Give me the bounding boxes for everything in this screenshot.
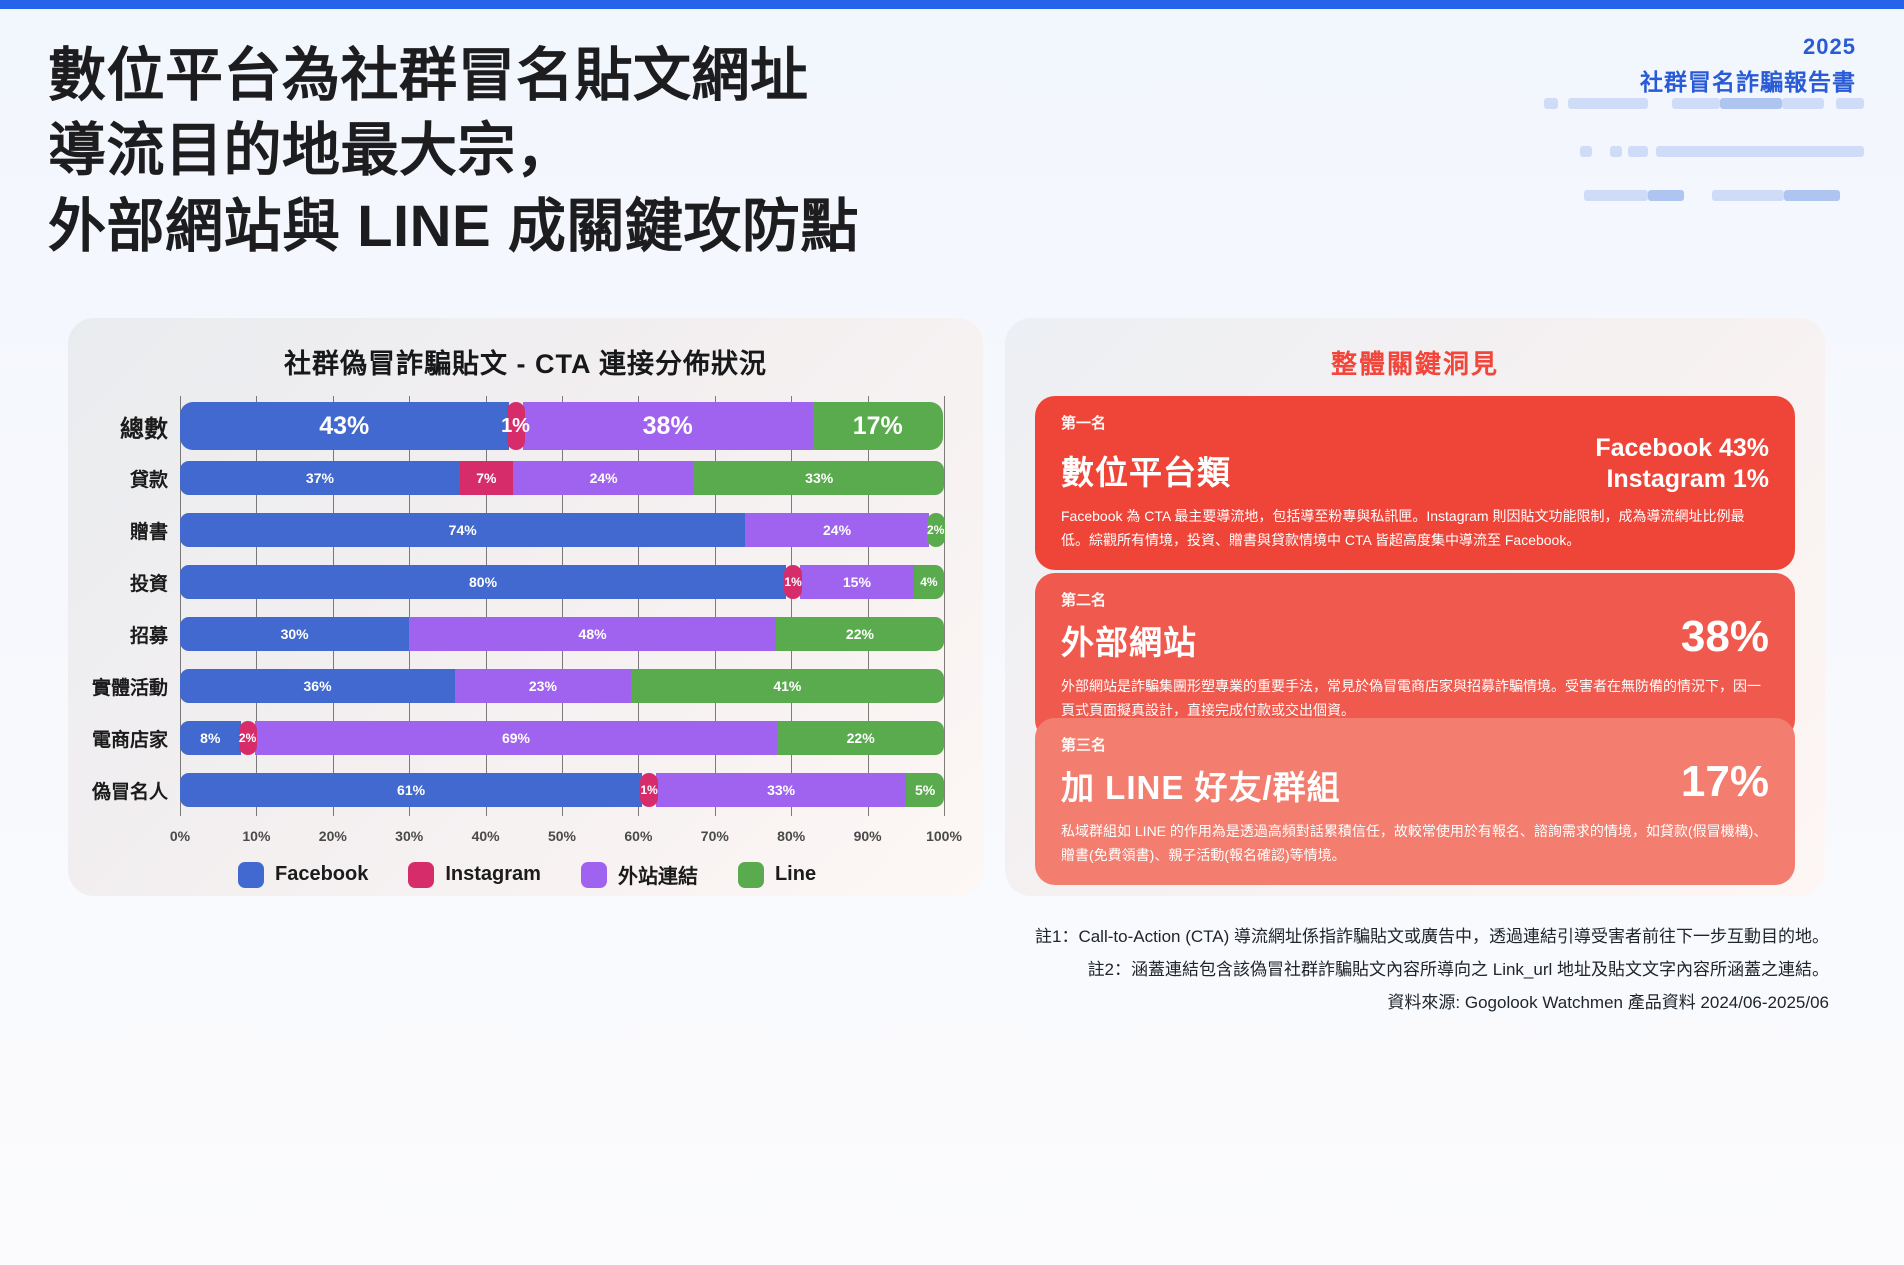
bar-segment-Facebook: 61% [180,773,642,807]
x-tick-label: 80% [777,828,805,844]
bar-segment-Instagram: 1% [507,402,525,450]
chart-legend: FacebookInstagram外站連結Line [238,860,816,889]
page-title: 數位平台為社群冒名貼文網址 導流目的地最大宗， 外部網站與 LINE 成關鍵攻防… [48,38,1228,264]
y-axis-label: 貸款 [130,465,168,492]
bar-value-label: 17% [853,412,903,441]
insight-card-1: 第一名數位平台類Facebook 43%Instagram 1%Facebook… [1035,396,1795,570]
bar-value-label: 5% [915,782,935,798]
insight-header-row: 加 LINE 好友/群組17% [1061,755,1769,809]
bar-segment-Line: 2% [927,513,945,547]
bar-segment-外站連結: 69% [255,721,778,755]
y-axis-label: 招募 [130,621,168,648]
legend-label: Facebook [275,863,368,886]
insight-name: 數位平台類 [1061,446,1231,494]
bar-segment-Line: 5% [906,773,944,807]
insight-header-row: 數位平台類Facebook 43%Instagram 1% [1061,433,1769,494]
bar-value-label: 22% [846,626,874,642]
bar-segment-Instagram: 1% [640,773,658,807]
headline-line-2: 導流目的地最大宗， [48,113,1228,188]
footnote-1: 註1：Call-to-Action (CTA) 導流網址係指詐騙貼文或廣告中，透… [729,920,1829,953]
bar-value-label: 48% [579,626,607,642]
bar-value-label: 1% [784,575,801,589]
bar-segment-外站連結: 33% [656,773,906,807]
bar-segment-外站連結: 15% [800,565,914,599]
bar-value-label: 4% [920,575,937,589]
chart-bar-row: 投資80%1%15%4% [180,565,944,599]
footnotes: 註1：Call-to-Action (CTA) 導流網址係指詐騙貼文或廣告中，透… [729,920,1829,1019]
bar-value-label: 1% [501,415,530,438]
bar-segment-Line: 4% [914,565,944,599]
headline-line-1: 數位平台為社群冒名貼文網址 [48,38,1228,113]
bar-segment-Facebook: 43% [180,402,509,450]
x-tick-label: 70% [701,828,729,844]
bar-segment-Line: 22% [776,617,944,651]
legend-label: Line [775,863,816,886]
chart-title: 社群偽冒詐騙貼文 - CTA 連接分佈狀況 [68,342,983,381]
legend-item[interactable]: Instagram [408,862,541,888]
bar-value-label: 74% [449,522,477,538]
x-tick-label: 100% [926,828,962,844]
insight-stat-line-1: Facebook 43% [1595,433,1769,464]
insight-description: 外部網站是詐騙集團形塑專業的重要手法，常見於偽冒電商店家與招募詐騙情境。受害者在… [1061,674,1769,722]
legend-item[interactable]: 外站連結 [581,860,698,889]
bar-value-label: 33% [767,782,795,798]
bar-segment-Instagram: 2% [239,721,257,755]
x-tick-label: 50% [548,828,576,844]
report-name: 社群冒名詐騙報告書 [1640,63,1856,97]
headline-line-3: 外部網站與 LINE 成關鍵攻防點 [48,189,1228,264]
y-axis-label: 實體活動 [92,673,168,700]
legend-swatch-icon [238,862,264,888]
report-badge: 2025 社群冒名詐騙報告書 [1640,34,1856,97]
chart-x-axis: 0%10%20%30%40%50%60%70%80%90%100% [180,828,944,854]
insights-title: 整體關鍵洞見 [1005,344,1825,381]
bar-segment-Facebook: 80% [180,565,786,599]
bar-value-label: 41% [773,678,801,694]
bar-segment-外站連結: 24% [745,513,928,547]
bar-value-label: 2% [239,731,256,745]
bar-value-label: 8% [200,730,220,746]
insight-rank-label: 第一名 [1061,412,1769,433]
chart-bar-row: 實體活動36%23%41% [180,669,944,703]
chart-plot-area: 總數43%1%38%17%貸款37%7%24%33%贈書74%24%2%投資80… [180,396,944,816]
bar-segment-外站連結: 38% [523,402,813,450]
bar-value-label: 24% [590,470,618,486]
x-tick-label: 40% [472,828,500,844]
legend-swatch-icon [581,862,607,888]
insight-name: 加 LINE 好友/群組 [1061,761,1341,809]
x-tick-label: 0% [170,828,190,844]
bar-value-label: 38% [643,412,693,441]
insight-rank-label: 第二名 [1061,589,1769,610]
decorative-bars [1544,98,1864,208]
bar-value-label: 1% [640,783,657,797]
chart-bar-row: 偽冒名人61%1%33%5% [180,773,944,807]
insight-card-3: 第三名加 LINE 好友/群組17%私域群組如 LINE 的作用為是透過高頻對話… [1035,718,1795,885]
bar-value-label: 37% [306,470,334,486]
bar-segment-Instagram: 1% [784,565,802,599]
legend-swatch-icon [738,862,764,888]
bar-value-label: 22% [847,730,875,746]
bar-value-label: 69% [502,730,530,746]
bar-segment-外站連結: 24% [513,461,695,495]
bar-value-label: 80% [469,574,497,590]
bar-segment-Instagram: 7% [460,461,513,495]
chart-card: 社群偽冒詐騙貼文 - CTA 連接分佈狀況 總數43%1%38%17%貸款37%… [68,318,983,896]
legend-label: 外站連結 [618,860,698,889]
legend-item[interactable]: Facebook [238,862,368,888]
bar-value-label: 7% [476,470,496,486]
bar-segment-Line: 22% [777,721,944,755]
report-year: 2025 [1640,34,1856,60]
bar-value-label: 33% [805,470,833,486]
bar-segment-Facebook: 8% [180,721,241,755]
bar-segment-外站連結: 23% [455,669,631,703]
x-tick-label: 60% [624,828,652,844]
footnote-2: 註2：涵蓋連結包含該偽冒社群詐騙貼文內容所導向之 Link_url 地址及貼文文… [729,953,1829,986]
y-axis-label: 贈書 [130,517,168,544]
chart-bar-row: 總數43%1%38%17% [180,402,944,450]
gridline [944,396,945,816]
insight-stat-line-1: 38% [1681,610,1769,664]
bar-segment-Line: 41% [631,669,944,703]
y-axis-label: 偽冒名人 [92,777,168,804]
chart-bar-row: 招募30%48%22% [180,617,944,651]
bar-segment-Facebook: 36% [180,669,455,703]
chart-bar-row: 貸款37%7%24%33% [180,461,944,495]
insight-description: 私域群組如 LINE 的作用為是透過高頻對話累積信任，故較常使用於有報名、諮詢需… [1061,819,1769,867]
bar-value-label: 24% [823,522,851,538]
bar-value-label: 61% [397,782,425,798]
chart-bar-row: 贈書74%24%2% [180,513,944,547]
y-axis-label: 投資 [130,569,168,596]
bar-value-label: 43% [319,412,369,441]
insight-stat: Facebook 43%Instagram 1% [1595,433,1769,494]
legend-label: Instagram [445,863,541,886]
bar-value-label: 2% [927,523,944,537]
bar-segment-Facebook: 30% [180,617,409,651]
insight-stat-line-2: Instagram 1% [1595,464,1769,495]
y-axis-label: 總數 [120,409,168,444]
top-accent-bar [0,0,1904,9]
legend-item[interactable]: Line [738,862,816,888]
insight-card-2: 第二名外部網站38%外部網站是詐騙集團形塑專業的重要手法，常見於偽冒電商店家與招… [1035,573,1795,740]
bar-value-label: 30% [281,626,309,642]
x-tick-label: 90% [854,828,882,844]
insight-rank-label: 第三名 [1061,734,1769,755]
chart-rows: 總數43%1%38%17%貸款37%7%24%33%贈書74%24%2%投資80… [180,396,944,816]
insight-stat-line-1: 17% [1681,755,1769,809]
chart-bar-row: 電商店家8%2%69%22% [180,721,944,755]
y-axis-label: 電商店家 [92,725,168,752]
insight-stat: 17% [1681,755,1769,809]
insight-stat: 38% [1681,610,1769,664]
bar-value-label: 15% [843,574,871,590]
insight-description: Facebook 為 CTA 最主要導流地，包括導至粉專與私訊匣。Instagr… [1061,504,1769,552]
bar-segment-Line: 33% [694,461,944,495]
bar-value-label: 23% [529,678,557,694]
infographic-page: 數位平台為社群冒名貼文網址 導流目的地最大宗， 外部網站與 LINE 成關鍵攻防… [0,0,1904,1265]
insight-name: 外部網站 [1061,616,1197,664]
legend-swatch-icon [408,862,434,888]
bar-value-label: 36% [304,678,332,694]
x-tick-label: 20% [319,828,347,844]
insight-header-row: 外部網站38% [1061,610,1769,664]
bar-segment-外站連結: 48% [409,617,776,651]
footnote-source: 資料來源: Gogolook Watchmen 產品資料 2024/06-202… [729,986,1829,1019]
insights-card: 整體關鍵洞見 第一名數位平台類Facebook 43%Instagram 1%F… [1005,318,1825,896]
bar-segment-Facebook: 37% [180,461,460,495]
bar-segment-Line: 17% [813,402,943,450]
x-tick-label: 10% [242,828,270,844]
x-tick-label: 30% [395,828,423,844]
bar-segment-Facebook: 74% [180,513,745,547]
